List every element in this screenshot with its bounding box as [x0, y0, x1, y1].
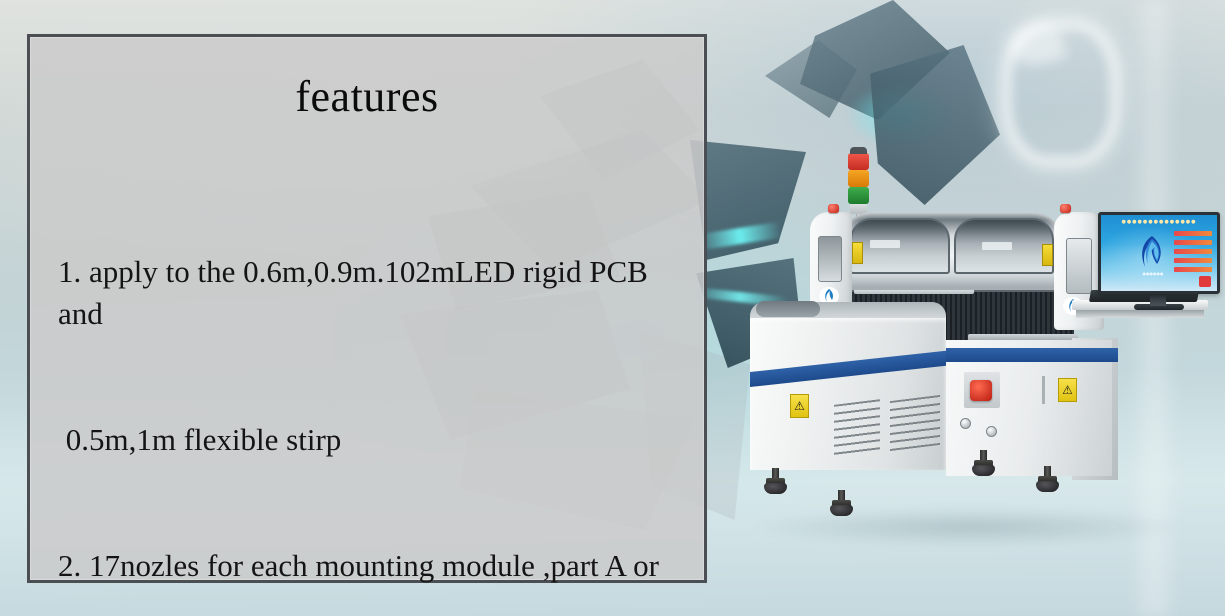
machine-hood [842, 212, 1062, 290]
control-slot [1066, 238, 1092, 294]
screen-menu-list [1174, 231, 1212, 276]
signal-light-red-icon [848, 153, 869, 170]
cabinet-door-seam [1042, 376, 1045, 404]
left-cabinet-lid [756, 301, 820, 317]
panel-knob[interactable] [960, 418, 971, 429]
warning-label-icon [1058, 378, 1077, 402]
ventilation-slots [890, 395, 940, 451]
ventilation-slots [834, 399, 880, 457]
screen-menu-row [1174, 231, 1212, 236]
background-glow-ring [1000, 18, 1122, 168]
control-slot [818, 236, 842, 282]
panel-knob[interactable] [986, 426, 997, 437]
screen-logo-caption: ●●●●●● [1127, 271, 1179, 276]
features-panel: features 1. apply to the 0.6m,0.9m.102mL… [27, 34, 707, 583]
features-text-block: 1. apply to the 0.6m,0.9m.102mLED rigid … [58, 167, 688, 616]
right-cabinet-blue-stripe [946, 348, 1118, 362]
hazard-sticker [1042, 244, 1053, 266]
screen-menu-row [1174, 249, 1212, 254]
smt-machine-photo: ●●●●●●●●●●●●●● ●●●●●● [742, 150, 1222, 530]
signal-tower-cap [850, 147, 867, 154]
operator-monitor[interactable]: ●●●●●●●●●●●●●● ●●●●●● [1098, 212, 1220, 294]
monitor-screen: ●●●●●●●●●●●●●● ●●●●●● [1101, 215, 1217, 291]
feature-line: 0.5m,1m flexible stirp [58, 419, 688, 461]
screen-title-text: ●●●●●●●●●●●●●● [1101, 219, 1217, 225]
signal-light-green-icon [848, 187, 869, 204]
signal-light-amber-icon [848, 170, 869, 187]
hood-glass-left [850, 218, 950, 274]
screen-logo-icon [1131, 233, 1173, 275]
keyboard-shelf-underside [1076, 310, 1204, 318]
hood-button-left[interactable] [828, 204, 839, 213]
warning-label-icon [790, 394, 809, 418]
screen-menu-row [1174, 240, 1212, 245]
emergency-stop-button[interactable] [970, 380, 992, 401]
screen-menu-row [1174, 258, 1212, 263]
hood-label [870, 240, 900, 248]
hood-label [982, 242, 1012, 250]
slide-canvas: ●●●●●●●●●●●●●● ●●●●●● [0, 0, 1225, 616]
screen-menu-row [1174, 267, 1212, 272]
page-title: features [30, 75, 704, 119]
feature-line: 1. apply to the 0.6m,0.9m.102mLED rigid … [58, 251, 688, 335]
screen-badge [1199, 276, 1211, 287]
feature-line: 2. 17nozles for each mounting module ,pa… [58, 545, 688, 587]
hazard-sticker [852, 242, 863, 264]
monitor-stand [1150, 294, 1166, 306]
hood-button-right[interactable] [1060, 204, 1071, 213]
